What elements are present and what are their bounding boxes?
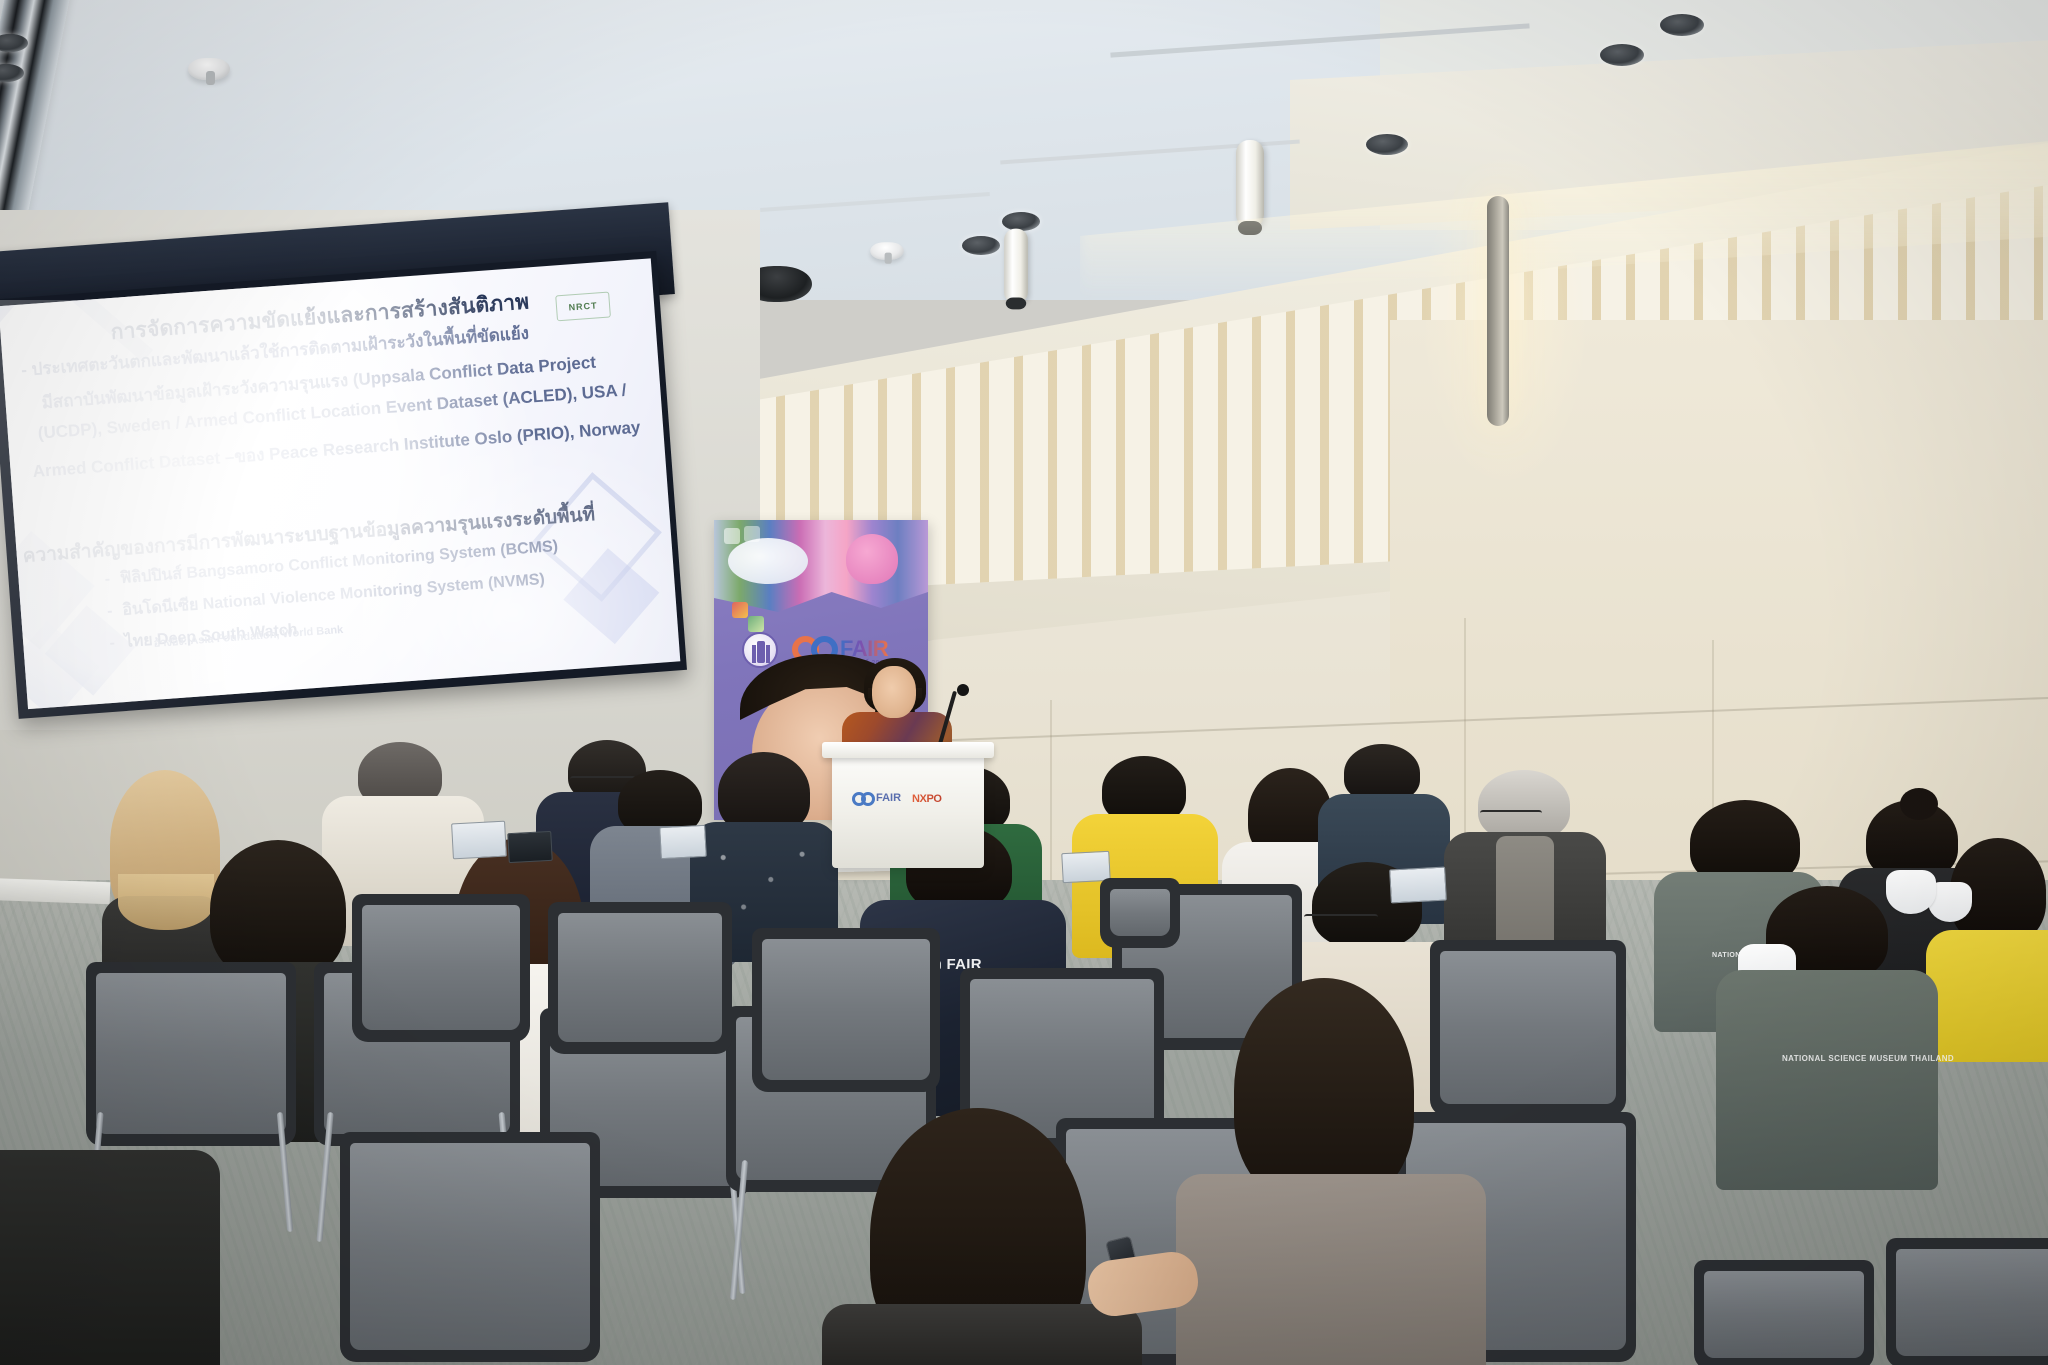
fair-ring-icon <box>861 792 875 806</box>
chair-back <box>1694 1260 1874 1365</box>
bullet-dash: - <box>107 603 114 620</box>
ceiling-downlight <box>1366 134 1408 155</box>
banner-corner-mark <box>744 526 760 542</box>
laptop[interactable] <box>507 831 553 863</box>
chair-mesh <box>1896 1249 2048 1356</box>
laptop[interactable] <box>1389 867 1447 904</box>
ceiling-downlight <box>1002 212 1040 231</box>
chair-mesh <box>1704 1271 1864 1358</box>
ceiling-downlight <box>962 236 1000 255</box>
hair-bun <box>1900 788 1938 820</box>
podium-nxpo-label: NXPO <box>912 793 942 805</box>
attendee-torso <box>822 1304 1142 1365</box>
attendee-hair <box>210 840 346 980</box>
attendee-torso <box>1176 1174 1486 1365</box>
wall-sconce-light <box>1487 196 1509 426</box>
bullet-dash: - <box>109 635 116 652</box>
track-spotlight <box>1236 140 1264 228</box>
chair[interactable] <box>352 894 530 1042</box>
chair-back <box>1886 1238 2048 1365</box>
banner-thumbnail <box>748 616 764 632</box>
laptop[interactable] <box>451 821 507 860</box>
chair[interactable] <box>1694 1260 1874 1365</box>
chair[interactable] <box>548 902 732 1054</box>
banner-thumbnail <box>732 602 748 618</box>
uniform-back-print: NATIONAL SCIENCE MUSEUM THAILAND <box>1782 1054 1954 1063</box>
chair[interactable] <box>340 1132 600 1362</box>
attendee-hair <box>1478 770 1570 840</box>
projected-slide: NRCT การจัดการความขัดแย้งและการสร้างสันต… <box>0 258 680 709</box>
attendee-front-left-edge <box>0 1150 220 1365</box>
attendee-uniform-2: NATIONAL SCIENCE MUSEUM THAILAND <box>1716 886 1936 1186</box>
smoke-detector <box>188 58 230 80</box>
chair-back <box>548 902 732 1054</box>
attendee-torso <box>1716 970 1938 1190</box>
ceiling-downlight <box>1660 14 1704 36</box>
banner-corner-mark <box>724 528 740 544</box>
chair-mesh <box>350 1143 590 1350</box>
banner-cloud-graphic <box>728 538 808 584</box>
microphone-head-icon <box>957 684 969 696</box>
laptop[interactable] <box>659 825 707 859</box>
track-spotlight <box>1004 229 1028 304</box>
eyeglasses-icon <box>1480 810 1542 820</box>
attendee-hair <box>1234 978 1414 1204</box>
chair-back <box>752 928 940 1092</box>
chair[interactable] <box>86 962 296 1146</box>
projection-screen: NRCT การจัดการความขัดแย้งและการสร้างสันต… <box>0 251 687 719</box>
chair-mesh <box>558 913 722 1042</box>
chair-mesh <box>96 973 286 1134</box>
ceiling-downlight <box>1600 44 1644 66</box>
side-table-left <box>0 878 110 905</box>
conference-room-scene: NRCT การจัดการความขัดแย้งและการสร้างสันต… <box>0 0 2048 1365</box>
chair[interactable] <box>752 928 940 1092</box>
podium-top-surface <box>822 742 994 758</box>
chair-back <box>1100 878 1180 948</box>
chair-mesh <box>362 905 520 1030</box>
chair[interactable] <box>1886 1238 2048 1365</box>
chair-back <box>340 1132 600 1362</box>
chair-back <box>352 894 530 1042</box>
banner-unicorn-graphic <box>846 534 898 584</box>
chair-back <box>86 962 296 1146</box>
eyeglasses-icon <box>1304 914 1378 924</box>
attendee-torso <box>0 1150 220 1365</box>
podium: FAIR NXPO <box>832 748 984 868</box>
podium-fair-logo: FAIR <box>852 790 904 808</box>
attendee-phone-user <box>1186 978 1476 1365</box>
smoke-detector <box>870 242 904 260</box>
speaker-head <box>872 666 916 718</box>
chair[interactable] <box>1100 878 1180 948</box>
chair-mesh <box>762 939 930 1080</box>
chair-mesh <box>1110 889 1170 936</box>
attendee-front-center <box>832 1108 1132 1365</box>
podium-fair-label: FAIR <box>876 792 901 804</box>
podium-logo-group: FAIR NXPO <box>852 788 964 810</box>
banner-org-emblem <box>742 632 778 668</box>
bullet-dash: - <box>104 571 111 588</box>
